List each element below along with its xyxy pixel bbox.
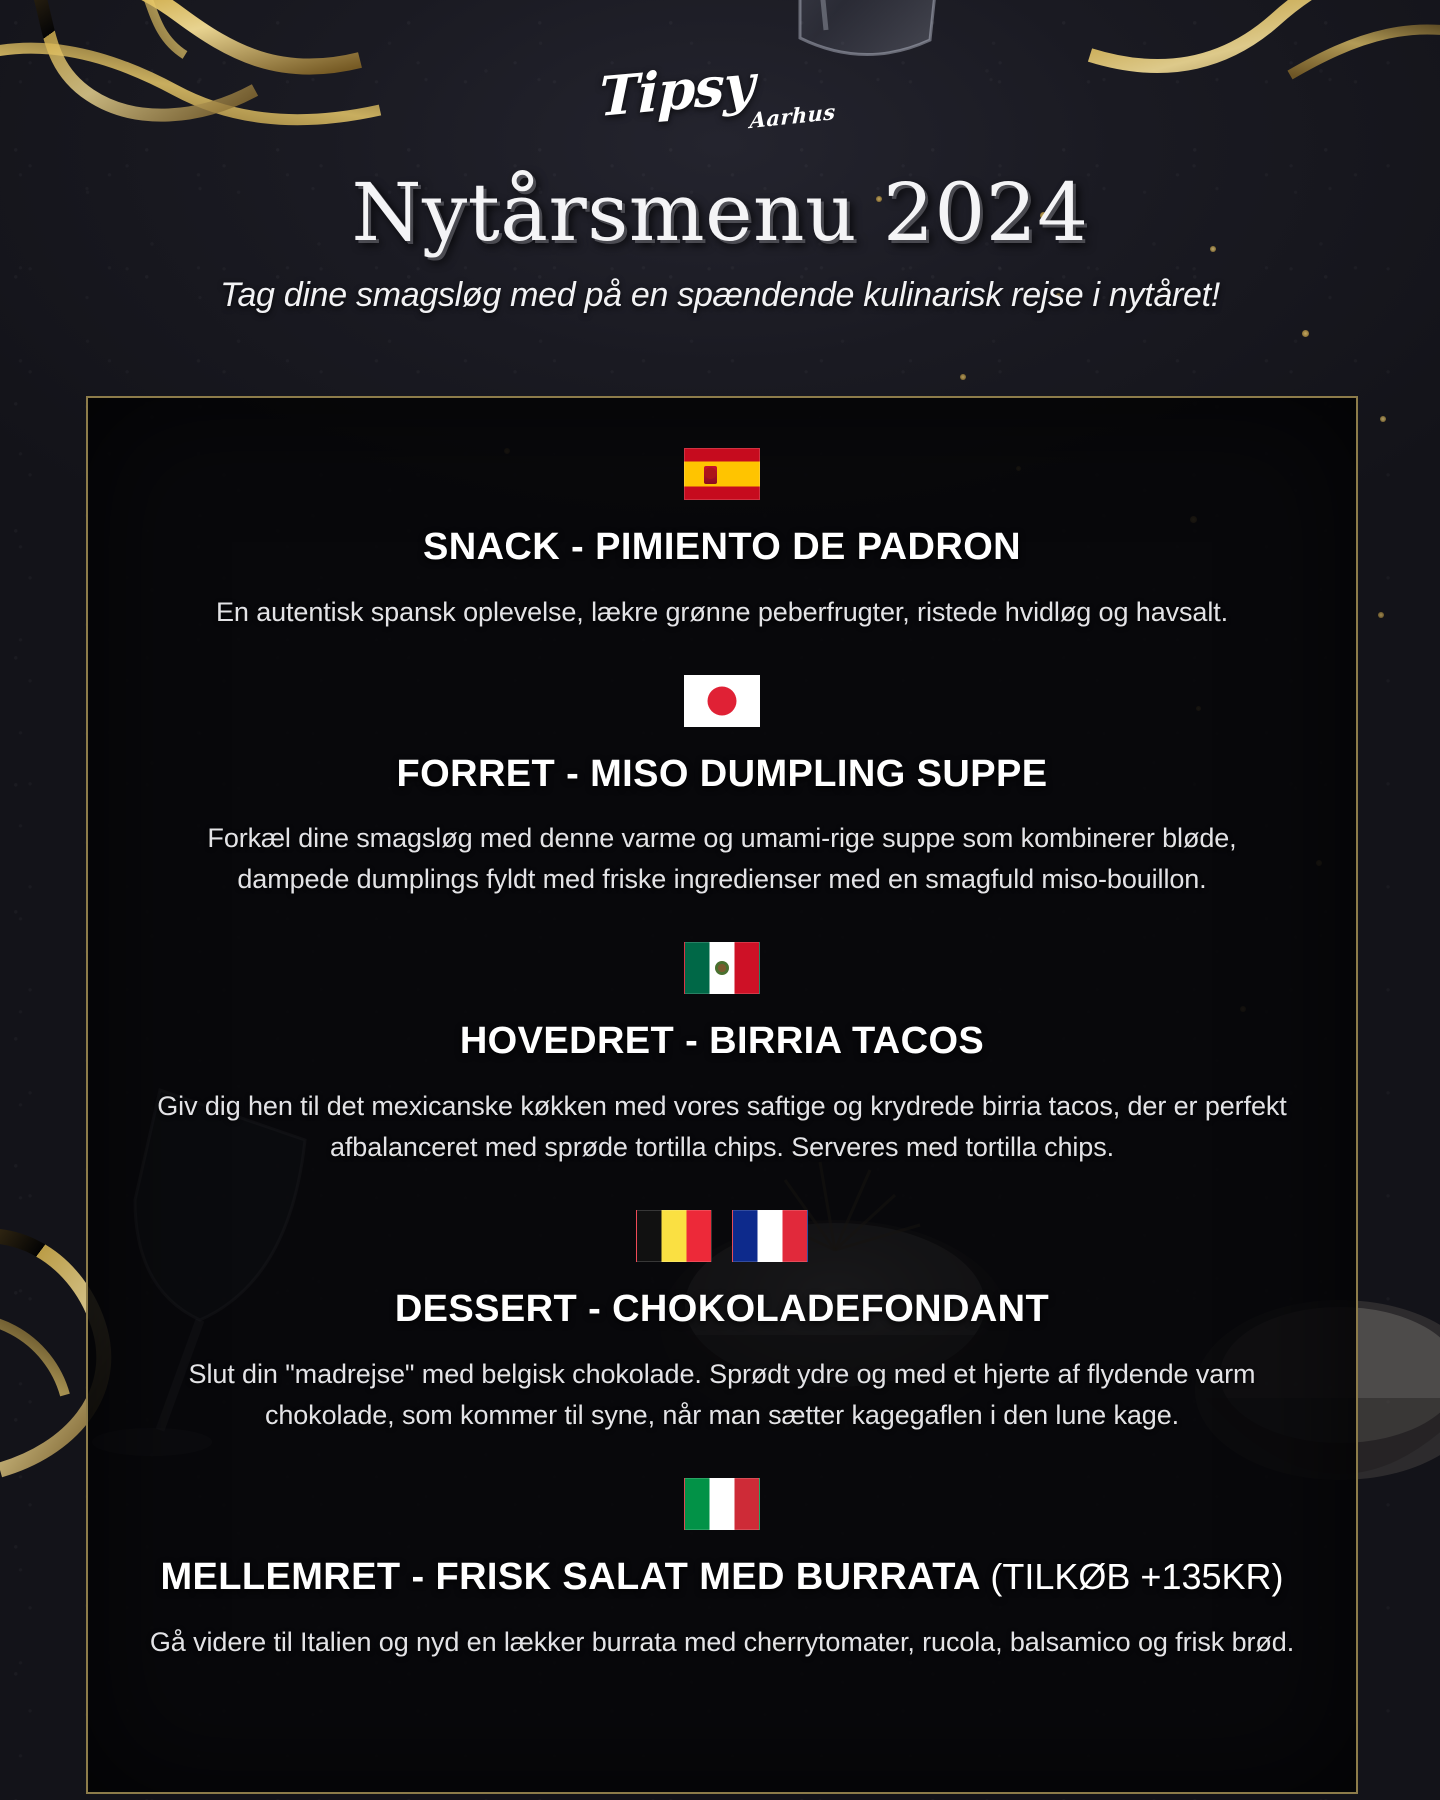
flag-row: [148, 942, 1296, 994]
brand-location: Aarhus: [750, 99, 837, 133]
menu-card-inner: SNACK - PIMIENTO DE PADRON En autentisk …: [148, 448, 1296, 1798]
bokeh-dot: [1302, 330, 1309, 337]
menu-section-mellemret: MELLEMRET - FRISK SALAT MED BURRATA (TIL…: [148, 1478, 1296, 1663]
section-description-dessert: Slut din "madrejse" med belgisk chokolad…: [148, 1354, 1296, 1436]
mexico-flag-icon: [684, 942, 760, 994]
flag-row: [148, 448, 1296, 500]
section-title-mellemret: MELLEMRET - FRISK SALAT MED BURRATA (TIL…: [148, 1556, 1296, 1600]
section-description-mellemret: Gå videre til Italien og nyd en lækker b…: [148, 1622, 1296, 1663]
japan-flag-icon: [684, 675, 760, 727]
italy-flag-icon: [684, 1478, 760, 1530]
page-title: Nytårsmenu 2024: [0, 166, 1440, 259]
bokeh-dot: [1378, 612, 1384, 618]
section-description-forret: Forkæl dine smagsløg med denne varme og …: [148, 818, 1296, 900]
section-title-dessert: DESSERT - CHOKOLADEFONDANT: [148, 1288, 1296, 1332]
section-title-hovedret: HOVEDRET - BIRRIA TACOS: [148, 1020, 1296, 1064]
menu-section-snack: SNACK - PIMIENTO DE PADRON En autentisk …: [148, 448, 1296, 633]
flag-row: [148, 1478, 1296, 1530]
menu-section-hovedret: HOVEDRET - BIRRIA TACOS Giv dig hen til …: [148, 942, 1296, 1168]
flag-row: [148, 675, 1296, 727]
france-flag-icon: [732, 1210, 808, 1262]
brand-name: Tipsy: [599, 51, 755, 129]
page-subtitle: Tag dine smagsløg med på en spændende ku…: [0, 276, 1440, 315]
menu-card: SNACK - PIMIENTO DE PADRON En autentisk …: [86, 396, 1358, 1794]
section-description-snack: En autentisk spansk oplevelse, lækre grø…: [148, 592, 1296, 633]
newyear-menu-poster: TipsyAarhus Nytårsmenu 2024 Tag dine sma…: [0, 0, 1440, 1800]
section-description-hovedret: Giv dig hen til det mexicanske køkken me…: [148, 1086, 1296, 1168]
bokeh-dot: [960, 374, 966, 380]
flag-row: [148, 1210, 1296, 1262]
section-title-forret: FORRET - MISO DUMPLING SUPPE: [148, 753, 1296, 797]
section-title-snack: SNACK - PIMIENTO DE PADRON: [148, 526, 1296, 570]
menu-section-dessert: DESSERT - CHOKOLADEFONDANT Slut din "mad…: [148, 1210, 1296, 1436]
section-title-mellemret-main: MELLEMRET - FRISK SALAT MED BURRATA: [160, 1556, 979, 1598]
bokeh-dot: [1380, 416, 1386, 422]
section-title-mellemret-addon: (TILKØB +135KR): [990, 1556, 1283, 1597]
menu-section-forret: FORRET - MISO DUMPLING SUPPE Forkæl dine…: [148, 675, 1296, 901]
brand-logo: TipsyAarhus: [0, 58, 1440, 144]
spain-flag-icon: [684, 448, 760, 500]
belgium-flag-icon: [636, 1210, 712, 1262]
